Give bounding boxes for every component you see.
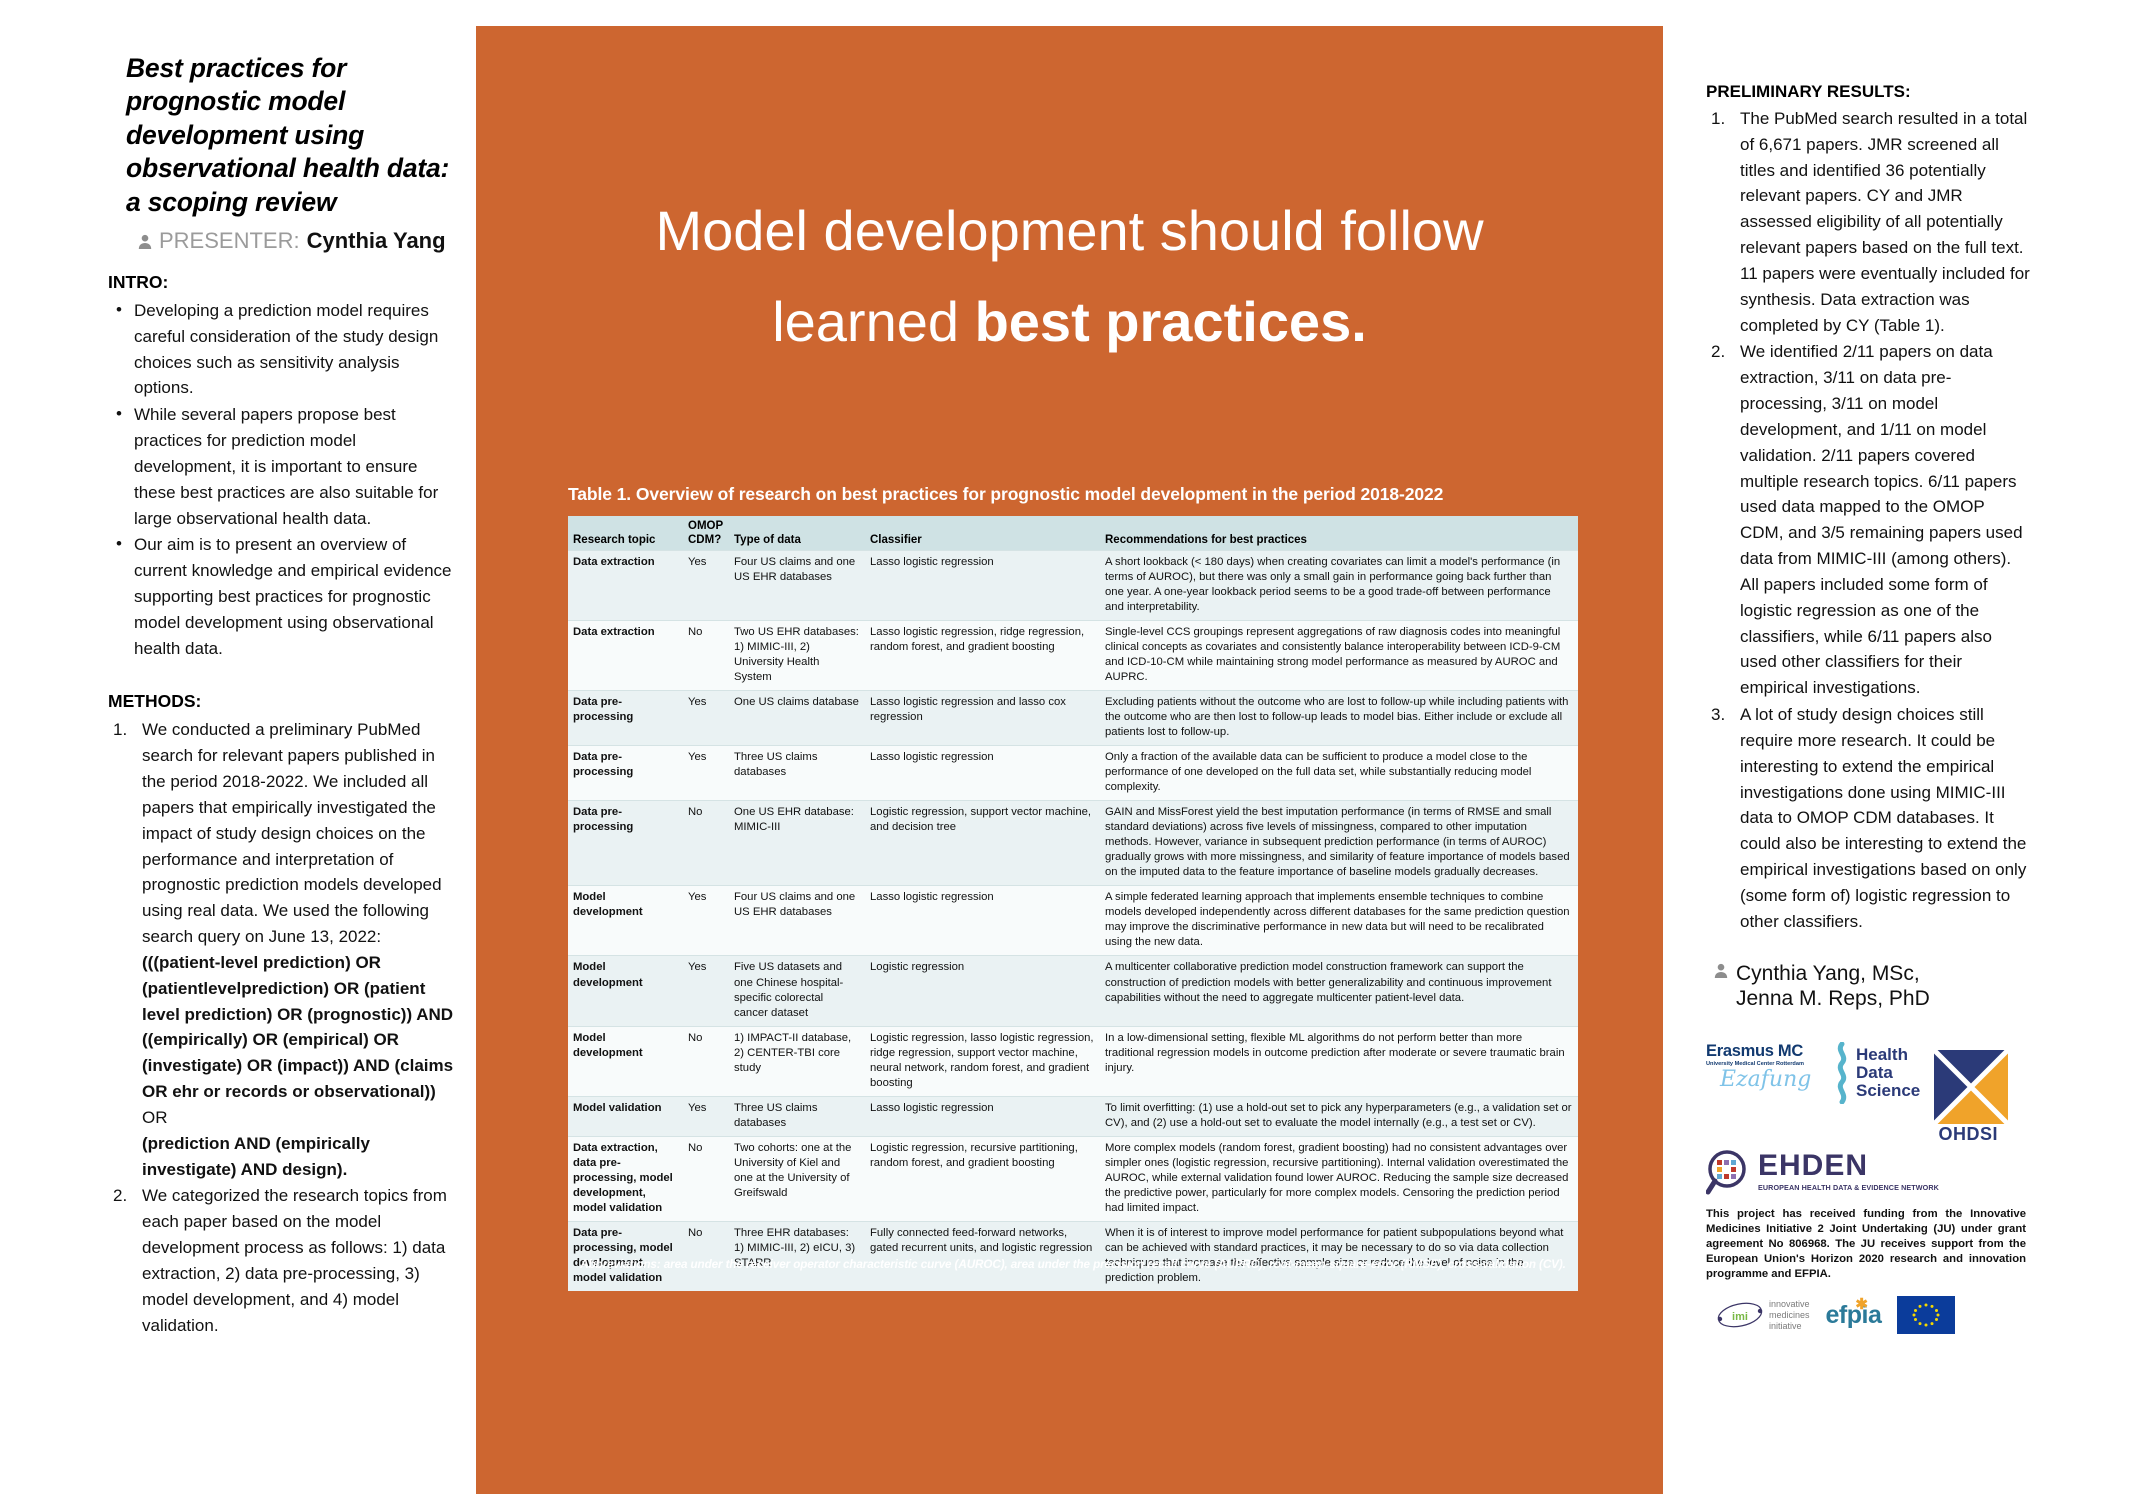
cell-omop: Yes	[683, 886, 729, 956]
hds-line-1: Health	[1856, 1045, 1908, 1064]
cell-recommendation: When it is of interest to improve model …	[1100, 1221, 1578, 1291]
table-row: Model validationYesThree US claims datab…	[568, 1096, 1578, 1136]
cell-recommendation: A simple federated learning approach tha…	[1100, 886, 1578, 956]
cell-topic: Model development	[568, 1026, 683, 1096]
health-data-science-logo: Health Data Science	[1832, 1042, 1920, 1104]
cell-recommendation: More complex models (random forest, grad…	[1100, 1136, 1578, 1221]
cell-data-type: One US EHR database: MIMIC-III	[729, 801, 865, 886]
results-item-text: A lot of study design choices still requ…	[1740, 705, 2026, 931]
cell-data-type: Three US claims databases	[729, 746, 865, 801]
authors-names: Cynthia Yang, MSc, Jenna M. Reps, PhD	[1736, 961, 1930, 1012]
table-body: Data extractionYesFour US claims and one…	[568, 551, 1578, 1291]
banner-line-2-light: learned	[772, 290, 974, 353]
cell-omop: No	[683, 801, 729, 886]
list-item: Developing a prediction model requires c…	[108, 298, 460, 401]
cell-classifier: Logistic regression, lasso logistic regr…	[865, 1026, 1100, 1096]
cell-topic: Data pre-processing	[568, 746, 683, 801]
column-header-classifier: Classifier	[865, 516, 1100, 551]
cell-data-type: Five US datasets and one Chinese hospita…	[729, 956, 865, 1026]
hds-line-2: Data	[1856, 1063, 1893, 1082]
author-2: Jenna M. Reps, PhD	[1736, 987, 1930, 1010]
poster-canvas: Best practices for prognostic model deve…	[0, 0, 2138, 1511]
cell-recommendation: A short lookback (< 180 days) when creat…	[1100, 551, 1578, 621]
search-query-part2: (prediction AND (empirically investigate…	[142, 1131, 460, 1183]
imi-logo: imi innovative medicines initiative	[1716, 1299, 1810, 1331]
list-marker: 2.	[113, 1183, 127, 1209]
cell-data-type: Three US claims databases	[729, 1096, 865, 1136]
cell-recommendation: Only a fraction of the available data ca…	[1100, 746, 1578, 801]
list-marker: 2.	[1711, 339, 1725, 365]
cell-data-type: Three EHR databases: 1) MIMIC-III, 2) eI…	[729, 1221, 865, 1291]
eu-flag-icon	[1897, 1296, 1955, 1334]
list-item: 2. We identified 2/11 papers on data ext…	[1706, 339, 2032, 701]
asclepius-rod-icon	[1832, 1042, 1852, 1104]
cell-recommendation: Single-level CCS groupings represent agg…	[1100, 621, 1578, 691]
list-item: 1. We conducted a preliminary PubMed sea…	[108, 717, 460, 1182]
table-row: Data pre-processingYesOne US claims data…	[568, 691, 1578, 746]
imi-mark-icon: imi	[1716, 1300, 1764, 1330]
column-header-recommendations: Recommendations for best practices	[1100, 516, 1578, 551]
intro-heading: INTRO:	[108, 272, 460, 293]
table-row: Data pre-processingNoOne US EHR database…	[568, 801, 1578, 886]
ohdsi-logo: OHDSI	[1928, 1042, 2008, 1145]
methods-item1-text: We conducted a preliminary PubMed search…	[142, 720, 442, 946]
cell-omop: Yes	[683, 956, 729, 1026]
person-icon	[1714, 963, 1728, 979]
cell-classifier: Lasso logistic regression	[865, 886, 1100, 956]
results-item-text: We identified 2/11 papers on data extrac…	[1740, 342, 2023, 697]
cell-classifier: Logistic regression	[865, 956, 1100, 1026]
cell-omop: No	[683, 1136, 729, 1221]
cell-topic: Data pre-processing, model development, …	[568, 1221, 683, 1291]
banner-line-2: learned best practices.	[516, 277, 1623, 368]
column-header-type-of-data: Type of data	[729, 516, 865, 551]
cell-recommendation: To limit overfitting: (1) use a hold-out…	[1100, 1096, 1578, 1136]
cell-omop: Yes	[683, 551, 729, 621]
erasmus-mc-name: Erasmus MC	[1706, 1042, 1824, 1061]
banner-line-1: Model development should follow	[516, 186, 1623, 277]
ehden-magnifier-icon	[1706, 1149, 1752, 1195]
erasmus-script-mark: Ezafung	[1720, 1069, 1824, 1091]
imi-text: innovative medicines initiative	[1769, 1299, 1810, 1331]
ehden-wordmark: EHDEN	[1758, 1149, 1868, 1182]
cell-recommendation: A multicenter collaborative prediction m…	[1100, 956, 1578, 1026]
cell-data-type: 1) IMPACT-II database, 2) CENTER-TBI cor…	[729, 1026, 865, 1096]
health-data-science-text: Health Data Science	[1856, 1046, 1920, 1100]
table-caption: Table 1. Overview of research on best pr…	[568, 484, 1578, 505]
cell-classifier: Logistic regression, support vector mach…	[865, 801, 1100, 886]
cell-omop: Yes	[683, 746, 729, 801]
star-icon: ✱	[1855, 1295, 1867, 1313]
cell-topic: Data pre-processing	[568, 801, 683, 886]
funding-disclaimer: This project has received funding from t…	[1706, 1207, 2026, 1283]
ohdsi-mark-icon	[1934, 1050, 2008, 1124]
table-row: Data extractionNoTwo US EHR databases: 1…	[568, 621, 1578, 691]
presenter-name: Cynthia Yang	[307, 228, 446, 254]
authors-line: Cynthia Yang, MSc, Jenna M. Reps, PhD	[1714, 961, 2032, 1012]
cell-topic: Data extraction	[568, 621, 683, 691]
table-row: Model developmentYesFour US claims and o…	[568, 886, 1578, 956]
table-row: Data pre-processingYesThree US claims da…	[568, 746, 1578, 801]
table-row: Data pre-processing, model development, …	[568, 1221, 1578, 1291]
cell-topic: Model development	[568, 886, 683, 956]
cell-data-type: Four US claims and one US EHR databases	[729, 551, 865, 621]
results-table: Research topic OMOP CDM? Type of data Cl…	[568, 516, 1578, 1291]
methods-heading: METHODS:	[108, 691, 460, 712]
cell-omop: No	[683, 1026, 729, 1096]
search-query-part1: (((patient-level prediction) OR (patient…	[142, 950, 460, 1105]
efpia-wordmark: efpia	[1826, 1301, 1882, 1329]
cell-data-type: One US claims database	[729, 691, 865, 746]
cell-topic: Model validation	[568, 1096, 683, 1136]
cell-classifier: Lasso logistic regression	[865, 746, 1100, 801]
cell-classifier: Lasso logistic regression	[865, 1096, 1100, 1136]
cell-classifier: Lasso logistic regression and lasso cox …	[865, 691, 1100, 746]
ehden-text-block: EHDEN EUROPEAN HEALTH DATA & EVIDENCE NE…	[1758, 1151, 1939, 1192]
table-row: Data extractionYesFour US claims and one…	[568, 551, 1578, 621]
cell-classifier: Fully connected feed-forward networks, g…	[865, 1221, 1100, 1291]
table-header-row: Research topic OMOP CDM? Type of data Cl…	[568, 516, 1578, 551]
search-query-or: OR	[142, 1105, 460, 1131]
list-item: 1. The PubMed search resulted in a total…	[1706, 106, 2032, 338]
hds-line-3: Science	[1856, 1081, 1920, 1100]
results-list: 1. The PubMed search resulted in a total…	[1706, 106, 2032, 935]
list-item: 2. We categorized the research topics fr…	[108, 1183, 460, 1338]
table-row: Data extraction, data pre-processing, mo…	[568, 1136, 1578, 1221]
results-item-text: The PubMed search resulted in a total of…	[1740, 109, 2030, 335]
column-header-research-topic: Research topic	[568, 516, 683, 551]
list-item: While several papers propose best practi…	[108, 402, 460, 531]
list-marker: 1.	[113, 717, 127, 743]
column-header-omop-cdm: OMOP CDM?	[683, 516, 729, 551]
left-column: Best practices for prognostic model deve…	[108, 52, 460, 1482]
cell-classifier: Lasso logistic regression	[865, 551, 1100, 621]
cell-topic: Model development	[568, 956, 683, 1026]
list-item: Our aim is to present an overview of cur…	[108, 532, 460, 661]
list-item: 3. A lot of study design choices still r…	[1706, 702, 2032, 934]
cell-omop: No	[683, 1221, 729, 1291]
imi-line-1: innovative	[1769, 1299, 1810, 1309]
imi-line-3: initiative	[1769, 1321, 1802, 1331]
list-marker: 3.	[1711, 702, 1725, 728]
table-abbreviations: Abbreviations: area under the receiver o…	[568, 1258, 1578, 1271]
table-row: Model developmentNo1) IMPACT-II database…	[568, 1026, 1578, 1096]
erasmus-mc-logo: Erasmus MC University Medical Center Rot…	[1706, 1042, 1824, 1091]
banner-headline: Model development should follow learned …	[476, 186, 1663, 367]
cell-omop: No	[683, 621, 729, 691]
cell-recommendation: GAIN and MissForest yield the best imput…	[1100, 801, 1578, 886]
cell-classifier: Logistic regression, recursive partition…	[865, 1136, 1100, 1221]
svg-text:imi: imi	[1732, 1311, 1748, 1323]
cell-topic: Data extraction, data pre-processing, mo…	[568, 1136, 683, 1221]
center-panel: Model development should follow learned …	[476, 26, 1663, 1494]
ohdsi-wordmark: OHDSI	[1928, 1124, 2008, 1145]
erasmus-mc-subtitle: University Medical Center Rotterdam	[1706, 1061, 1824, 1067]
logo-row-top: Erasmus MC University Medical Center Rot…	[1706, 1042, 2032, 1145]
results-heading: PRELIMINARY RESULTS:	[1706, 82, 2032, 102]
author-1: Cynthia Yang, MSc,	[1736, 962, 1920, 985]
intro-bullet-list: Developing a prediction model requires c…	[108, 298, 460, 662]
cell-classifier: Lasso logistic regression, ridge regress…	[865, 621, 1100, 691]
methods-item2-text: We categorized the research topics from …	[142, 1186, 447, 1334]
presenter-label: PRESENTER:	[159, 228, 300, 254]
methods-list: 1. We conducted a preliminary PubMed sea…	[108, 717, 460, 1338]
person-icon	[138, 234, 152, 250]
list-marker: 1.	[1711, 106, 1725, 132]
cell-topic: Data pre-processing	[568, 691, 683, 746]
right-column: PRELIMINARY RESULTS: 1. The PubMed searc…	[1706, 76, 2032, 1334]
imi-line-2: medicines	[1769, 1310, 1810, 1320]
cell-data-type: Four US claims and one US EHR databases	[729, 886, 865, 956]
logo-section: Erasmus MC University Medical Center Rot…	[1706, 1042, 2032, 1335]
presenter-line: PRESENTER: Cynthia Yang	[138, 228, 460, 254]
results-table-container: Research topic OMOP CDM? Type of data Cl…	[568, 516, 1578, 1291]
ehden-subtitle: EUROPEAN HEALTH DATA & EVIDENCE NETWORK	[1758, 1183, 1939, 1192]
logo-row-bottom: imi innovative medicines initiative ✱ ef…	[1716, 1296, 2032, 1334]
cell-topic: Data extraction	[568, 551, 683, 621]
cell-data-type: Two cohorts: one at the University of Ki…	[729, 1136, 865, 1221]
cell-recommendation: In a low-dimensional setting, flexible M…	[1100, 1026, 1578, 1096]
cell-omop: Yes	[683, 1096, 729, 1136]
efpia-logo: ✱ efpia	[1826, 1301, 1882, 1330]
cell-omop: Yes	[683, 691, 729, 746]
table-row: Model developmentYesFive US datasets and…	[568, 956, 1578, 1026]
ehden-logo: EHDEN EUROPEAN HEALTH DATA & EVIDENCE NE…	[1706, 1149, 2032, 1195]
cell-data-type: Two US EHR databases: 1) MIMIC-III, 2) U…	[729, 621, 865, 691]
banner-line-2-bold: best practices.	[975, 290, 1367, 353]
cell-recommendation: Excluding patients without the outcome w…	[1100, 691, 1578, 746]
page-title: Best practices for prognostic model deve…	[126, 52, 460, 219]
